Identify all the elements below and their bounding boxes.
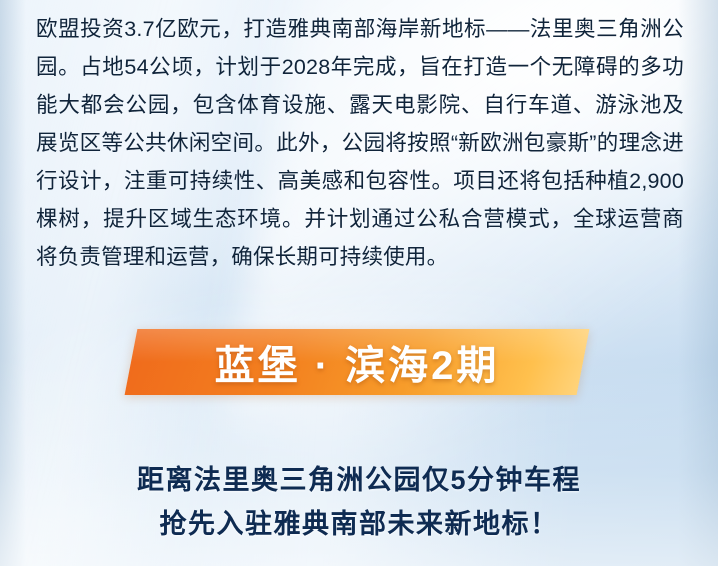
banner-title: 蓝堡 · 滨海2期 — [131, 329, 583, 395]
poster-canvas: 欧盟投资3.7亿欧元，打造雅典南部海岸新地标——法里奥三角洲公园。占地54公顷，… — [0, 0, 718, 566]
banner: 蓝堡 · 滨海2期 — [0, 329, 718, 401]
subheadline-line-1: 距离法里奥三角洲公园仅5分钟车程 — [0, 458, 718, 502]
subheadline-line-2: 抢先入驻雅典南部未来新地标！ — [0, 502, 718, 546]
body-paragraph: 欧盟投资3.7亿欧元，打造雅典南部海岸新地标——法里奥三角洲公园。占地54公顷，… — [36, 10, 684, 276]
subheadline-block: 距离法里奥三角洲公园仅5分钟车程 抢先入驻雅典南部未来新地标！ — [0, 458, 718, 546]
